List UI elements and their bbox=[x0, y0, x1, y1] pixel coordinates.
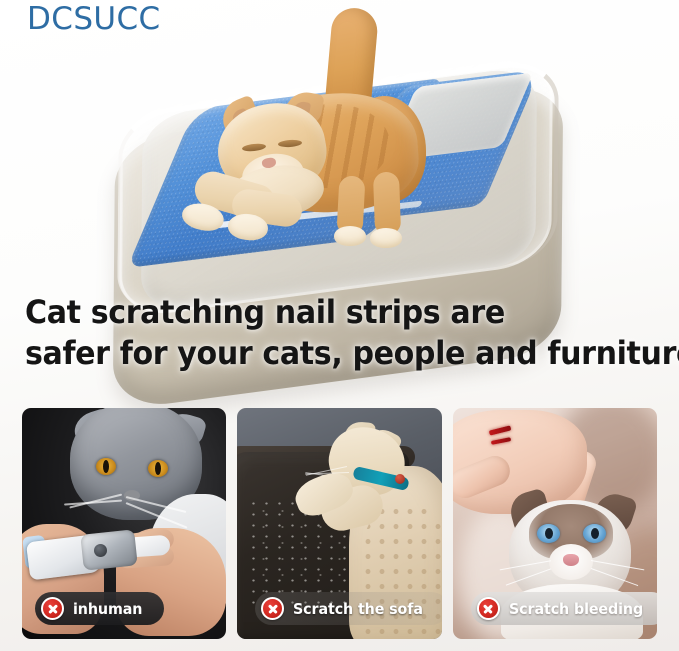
brand-logo: DCSUCC bbox=[27, 4, 161, 35]
p1-cat-eye-left bbox=[96, 458, 116, 475]
cat-hind-leg-right bbox=[373, 172, 401, 235]
red-x-circle-icon bbox=[41, 597, 64, 620]
headline-line-2: safer for your cats, people and furnitur… bbox=[25, 333, 636, 374]
page-title: Cat scratching nail strips are safer for… bbox=[25, 292, 636, 373]
panel-scratch-bleeding: Scratch bleeding bbox=[453, 408, 657, 639]
headline-line-1: Cat scratching nail strips are bbox=[25, 292, 636, 333]
red-x-circle-icon bbox=[477, 597, 500, 620]
badge-scratch-sofa: Scratch the sofa bbox=[255, 592, 441, 625]
p3-cat-eye-right bbox=[583, 524, 606, 543]
red-x-circle-icon bbox=[261, 597, 284, 620]
p1-cat-claw bbox=[131, 535, 170, 558]
badge-label: Scratch bleeding bbox=[509, 600, 643, 618]
p3-cat-eye-left bbox=[537, 524, 560, 543]
benefit-panel-row: inhuman Scratch the sofa bbox=[22, 408, 657, 639]
badge-label: Scratch the sofa bbox=[293, 600, 423, 618]
badge-scratch-bleeding: Scratch bleeding bbox=[471, 592, 657, 625]
panel-inhuman: inhuman bbox=[22, 408, 226, 639]
badge-inhuman: inhuman bbox=[35, 592, 164, 625]
cat-paw-hind-left bbox=[334, 226, 366, 246]
cat-paw-hind-right bbox=[370, 228, 402, 248]
hero-cat bbox=[150, 8, 480, 268]
p3-cat-nose bbox=[563, 554, 579, 566]
panel-scratch-sofa: Scratch the sofa bbox=[237, 408, 441, 639]
p1-nail-clipper-pivot bbox=[94, 544, 107, 557]
badge-label: inhuman bbox=[73, 600, 142, 618]
p1-cat-eye-right bbox=[148, 460, 168, 477]
product-marketing-image: DCSUCC bbox=[0, 0, 679, 651]
p1-nail-clipper-head bbox=[80, 529, 137, 570]
